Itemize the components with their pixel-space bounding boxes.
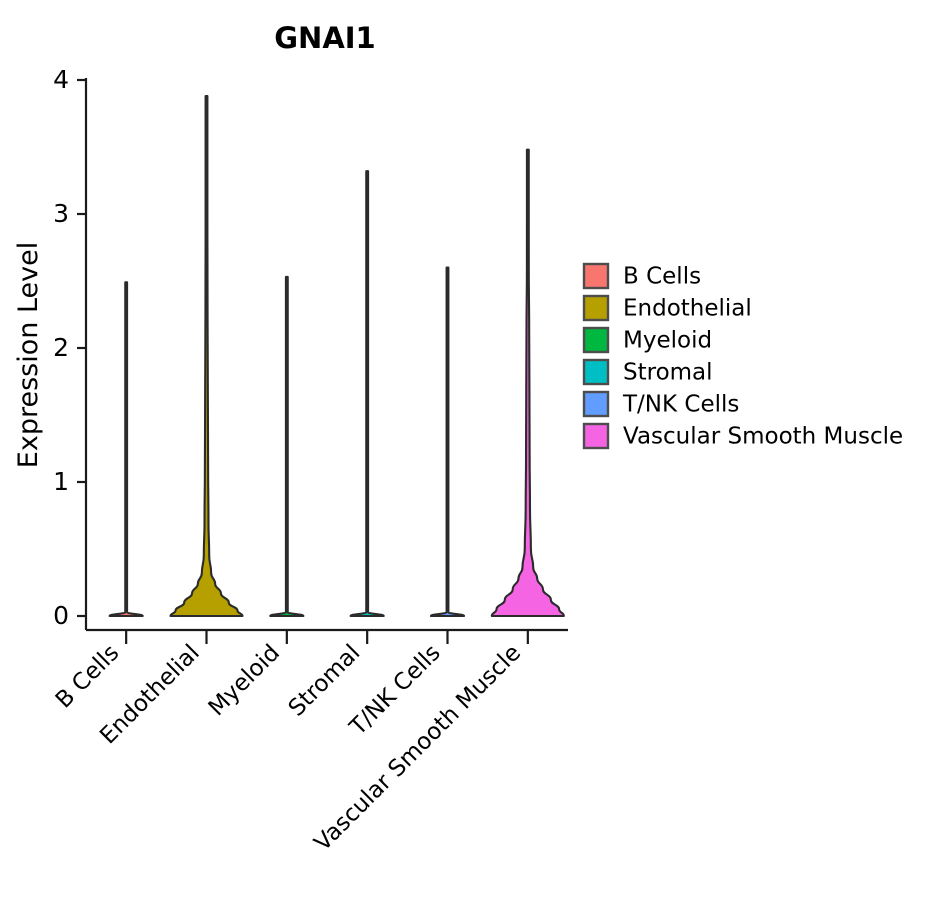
legend-swatch-b-cells[interactable] — [584, 264, 608, 288]
y-axis-title: Expression Level — [13, 242, 44, 468]
legend-swatch-stromal[interactable] — [584, 360, 608, 384]
plot-canvas: GNAI1 01234 Expression Level B CellsEndo… — [0, 0, 944, 900]
x-tick-group: B CellsEndothelialMyeloidStromalT/NK Cel… — [51, 630, 528, 856]
violin-b-cells[interactable] — [110, 282, 143, 616]
legend: B CellsEndothelialMyeloidStromalT/NK Cel… — [584, 264, 903, 450]
legend-swatch-endothelial[interactable] — [584, 296, 608, 320]
violin-endothelial[interactable] — [171, 96, 243, 616]
y-tick-label: 2 — [53, 333, 69, 362]
y-tick-group: 01234 — [53, 65, 86, 630]
y-tick-label: 3 — [53, 199, 69, 228]
y-axis: 01234 Expression Level — [13, 65, 86, 630]
legend-label-myeloid: Myeloid — [623, 328, 712, 354]
y-tick-label: 4 — [53, 65, 69, 94]
y-tick-label: 1 — [53, 467, 69, 496]
x-axis: B CellsEndothelialMyeloidStromalT/NK Cel… — [51, 630, 568, 856]
violin-plot-figure: GNAI1 01234 Expression Level B CellsEndo… — [0, 0, 944, 900]
violin-myeloid[interactable] — [270, 277, 303, 616]
legend-swatch-myeloid[interactable] — [584, 328, 608, 352]
legend-label-endothelial: Endothelial — [623, 296, 752, 322]
violin-stromal[interactable] — [351, 171, 384, 616]
legend-label-b-cells: B Cells — [623, 264, 701, 290]
legend-swatch-vascular-smooth-muscle[interactable] — [584, 424, 608, 448]
x-tick-label: B Cells — [51, 640, 125, 714]
x-tick-label: Stromal — [284, 640, 366, 722]
y-tick-label: 0 — [53, 601, 69, 630]
legend-swatch-t-nk-cells[interactable] — [584, 392, 608, 416]
legend-label-t-nk-cells: T/NK Cells — [622, 392, 739, 418]
violin-t-nk-cells[interactable] — [431, 268, 464, 616]
legend-label-stromal: Stromal — [623, 360, 713, 386]
page-title: GNAI1 — [274, 21, 376, 55]
x-tick-label: Myeloid — [204, 640, 285, 721]
violin-vascular-smooth-muscle[interactable] — [492, 150, 564, 616]
violin-series-group — [110, 96, 564, 616]
legend-label-vascular-smooth-muscle: Vascular Smooth Muscle — [623, 424, 903, 450]
